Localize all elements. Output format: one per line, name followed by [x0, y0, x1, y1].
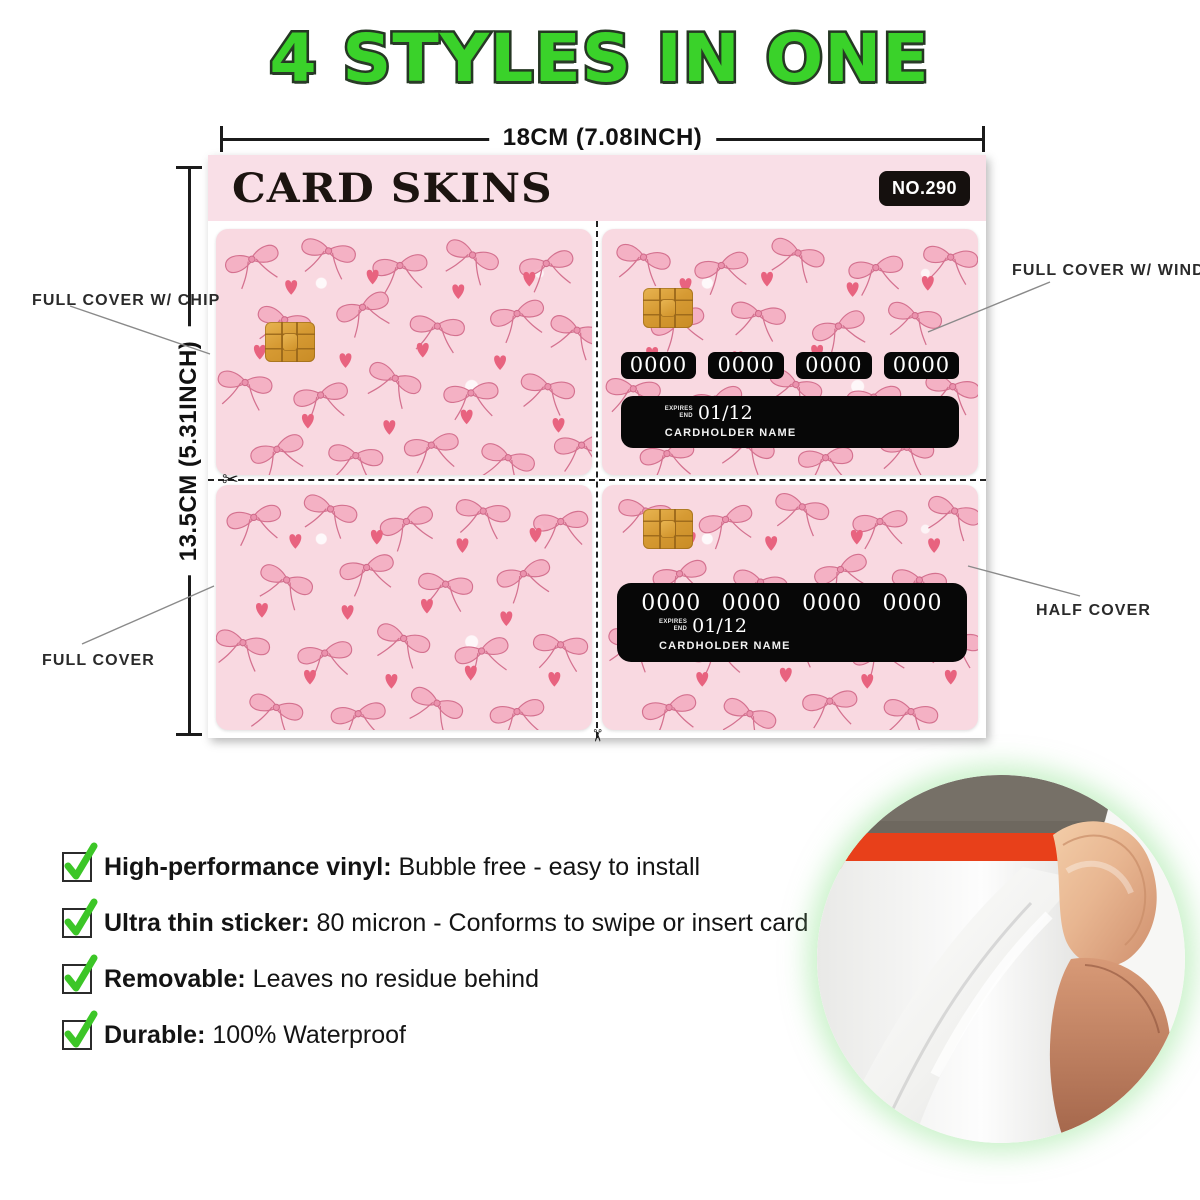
width-dimension-line: 18CM (7.08INCH): [220, 126, 985, 152]
expiry-value: 01/12: [698, 403, 753, 423]
headline-banner: 4 STYLES IN ONE: [0, 26, 1200, 92]
cardholder-name: CARDHOLDER NAME: [659, 640, 967, 652]
feature-list: High-performance vinyl: Bubble free - ea…: [62, 846, 822, 1070]
card-number-row: 0000 0000 0000 0000: [617, 592, 967, 616]
feature-text: Durable: 100% Waterproof: [104, 1020, 406, 1050]
expiry-and-holder: EXPIRES END 01/12 CARDHOLDER NAME: [617, 616, 967, 652]
expires-label-line1: EXPIRES: [665, 406, 693, 412]
card-number-group: 0000: [883, 592, 943, 616]
card-info-window: EXPIRES END 01/12 CARDHOLDER NAME: [621, 396, 959, 448]
dimension-cap-left: [220, 126, 223, 152]
expires-label-line1: EXPIRES: [659, 619, 687, 625]
card-number-row: 0000 0000 0000 0000: [621, 352, 959, 379]
bow-pattern-icon: [216, 485, 592, 731]
callout-full-cover: FULL COVER: [42, 652, 155, 670]
card-number-group: 0000: [884, 352, 959, 379]
feature-label: Durable:: [104, 1021, 205, 1049]
card-info-half-block: 0000 0000 0000 0000 EXPIRES END 01/12: [617, 583, 967, 662]
scissors-icon: ✂: [222, 470, 239, 490]
dimension-cap-right: [982, 126, 985, 152]
leader-line-full-cover-with-window: [928, 282, 1058, 340]
card-number-group: 0000: [621, 352, 696, 379]
cardholder-name: CARDHOLDER NAME: [665, 427, 959, 439]
expires-label-line2: END: [674, 626, 688, 632]
dimension-cap-top: [176, 166, 202, 169]
sheet-title: CARD SKINS: [232, 165, 553, 212]
feature-label: High-performance vinyl:: [104, 853, 392, 881]
feature-desc: 100% Waterproof: [205, 1021, 406, 1049]
width-dimension-label: 18CM (7.08INCH): [489, 124, 717, 152]
feature-desc: 80 micron - Conforms to swipe or insert …: [310, 909, 809, 937]
feature-text: High-performance vinyl: Bubble free - ea…: [104, 852, 700, 882]
feature-text: Removable: Leaves no residue behind: [104, 964, 539, 994]
card-number-group: 0000: [722, 592, 782, 616]
height-dimension-line: 13.5CM (5.31INCH): [176, 166, 202, 736]
emv-chip-icon: [643, 288, 693, 328]
feature-label: Removable:: [104, 965, 246, 993]
card-number-group: 0000: [708, 352, 783, 379]
expiry-row: EXPIRES END 01/12: [665, 403, 959, 423]
sticker-sheet: CARD SKINS NO.290: [208, 155, 986, 738]
card-full-cover[interactable]: [216, 485, 592, 731]
sheet-number-badge: NO.290: [879, 171, 970, 206]
leader-line-full-cover: [82, 586, 222, 648]
card-number-group: 0000: [802, 592, 862, 616]
emv-chip-icon: [643, 509, 693, 549]
feature-desc: Leaves no residue behind: [246, 965, 539, 993]
card-full-cover-with-window[interactable]: 0000 0000 0000 0000 EXPIRES END 01/12 CA…: [602, 229, 978, 475]
feature-item: Ultra thin sticker: 80 micron - Conforms…: [62, 902, 822, 944]
scissors-icon: ✂: [589, 728, 606, 742]
check-mark-icon: [62, 908, 92, 938]
peel-demo-illustration: [817, 775, 1185, 1143]
expires-label: EXPIRES END: [659, 619, 687, 633]
expires-label: EXPIRES END: [665, 406, 693, 420]
expires-label-line2: END: [679, 413, 693, 419]
peel-demo-photo: [817, 775, 1185, 1143]
check-mark-icon: [62, 964, 92, 994]
callout-full-cover-with-window: FULL COVER W/ WINDOW: [1012, 262, 1200, 280]
feature-text: Ultra thin sticker: 80 micron - Conforms…: [104, 908, 808, 938]
cut-line-vertical: [596, 221, 598, 738]
card-number-group: 0000: [641, 592, 701, 616]
feature-desc: Bubble free - easy to install: [392, 853, 701, 881]
card-full-cover-with-chip[interactable]: [216, 229, 592, 475]
emv-chip-icon: [265, 322, 315, 362]
expiry-value: 01/12: [692, 616, 747, 636]
feature-item: Removable: Leaves no residue behind: [62, 958, 822, 1000]
quadrant-grid: 0000 0000 0000 0000 EXPIRES END 01/12 CA…: [216, 229, 978, 730]
feature-item: Durable: 100% Waterproof: [62, 1014, 822, 1056]
cards-area: 0000 0000 0000 0000 EXPIRES END 01/12 CA…: [208, 221, 986, 738]
leader-line-full-cover-with-chip: [70, 306, 220, 366]
feature-label: Ultra thin sticker:: [104, 909, 310, 937]
card-number-group: 0000: [796, 352, 871, 379]
sheet-header: CARD SKINS NO.290: [208, 155, 986, 221]
leader-line-half-cover: [968, 566, 1088, 608]
feature-item: High-performance vinyl: Bubble free - ea…: [62, 846, 822, 888]
page-title: 4 STYLES IN ONE: [270, 26, 930, 92]
expiry-row: EXPIRES END 01/12: [659, 616, 967, 636]
dimension-cap-bottom: [176, 733, 202, 736]
check-mark-icon: [62, 852, 92, 882]
card-half-cover[interactable]: 0000 0000 0000 0000 EXPIRES END 01/12: [602, 485, 978, 731]
check-mark-icon: [62, 1020, 92, 1050]
